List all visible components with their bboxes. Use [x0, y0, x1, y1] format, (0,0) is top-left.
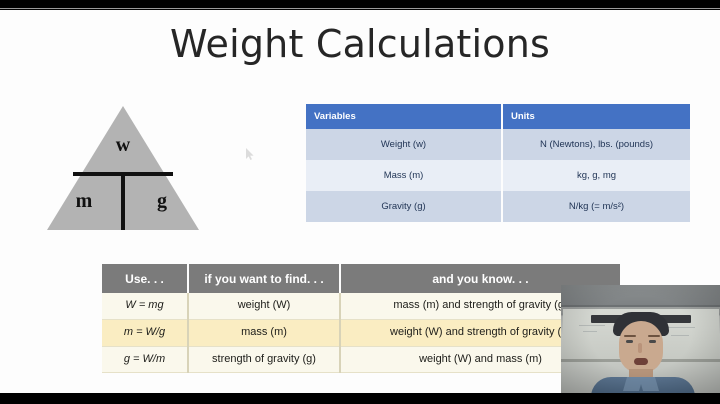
table-row: m = W/g mass (m) weight (W) and strength…	[102, 319, 620, 346]
cell-find-gravity: strength of gravity (g)	[188, 346, 340, 373]
letterbox-bar-bottom	[0, 393, 720, 404]
page-title: Weight Calculations	[0, 22, 720, 66]
triangle-label-gravity: g	[140, 190, 184, 213]
letterbox-hairline	[0, 8, 720, 9]
table-row: W = mg weight (W) mass (m) and strength …	[102, 293, 620, 319]
table-row: Weight (w) N (Newtons), lbs. (pounds)	[306, 129, 690, 160]
video-frame: Weight Calculations w m g Variables Unit…	[0, 0, 720, 404]
formula-triangle-diagram: w m g	[44, 102, 202, 234]
cell-find-weight: weight (W)	[188, 293, 340, 319]
formula-rearrangement-table: Use. . . if you want to find. . . and yo…	[102, 264, 620, 373]
cell-formula-mass: m = W/g	[102, 319, 188, 346]
table-header-row: Variables Units	[306, 104, 690, 129]
cell-units-gravity: N/kg (= m/s²)	[502, 191, 690, 222]
triangle-label-mass: m	[62, 190, 106, 213]
table-row: Gravity (g) N/kg (= m/s²)	[306, 191, 690, 222]
cell-formula-weight: W = mg	[102, 293, 188, 319]
cell-variable-weight: Weight (w)	[306, 129, 502, 160]
table-row: Mass (m) kg, g, mg	[306, 160, 690, 191]
webcam-vignette	[561, 285, 720, 393]
variables-units-table: Variables Units Weight (w) N (Newtons), …	[306, 104, 690, 222]
cell-variable-mass: Mass (m)	[306, 160, 502, 191]
table-header-row: Use. . . if you want to find. . . and yo…	[102, 264, 620, 293]
triangle-label-weight: w	[44, 134, 202, 157]
triangle-shape	[44, 102, 202, 234]
cell-units-mass: kg, g, mg	[502, 160, 690, 191]
cell-formula-gravity: g = W/m	[102, 346, 188, 373]
column-header-variables: Variables	[306, 104, 502, 129]
cell-find-mass: mass (m)	[188, 319, 340, 346]
cell-units-weight: N (Newtons), lbs. (pounds)	[502, 129, 690, 160]
column-header-use: Use. . .	[102, 264, 188, 293]
column-header-find: if you want to find. . .	[188, 264, 340, 293]
cell-variable-gravity: Gravity (g)	[306, 191, 502, 222]
letterbox-bar-top	[0, 0, 720, 9]
column-header-units: Units	[502, 104, 690, 129]
table-row: g = W/m strength of gravity (g) weight (…	[102, 346, 620, 373]
mouse-cursor-icon	[246, 148, 254, 160]
presenter-webcam-overlay[interactable]	[561, 285, 720, 393]
